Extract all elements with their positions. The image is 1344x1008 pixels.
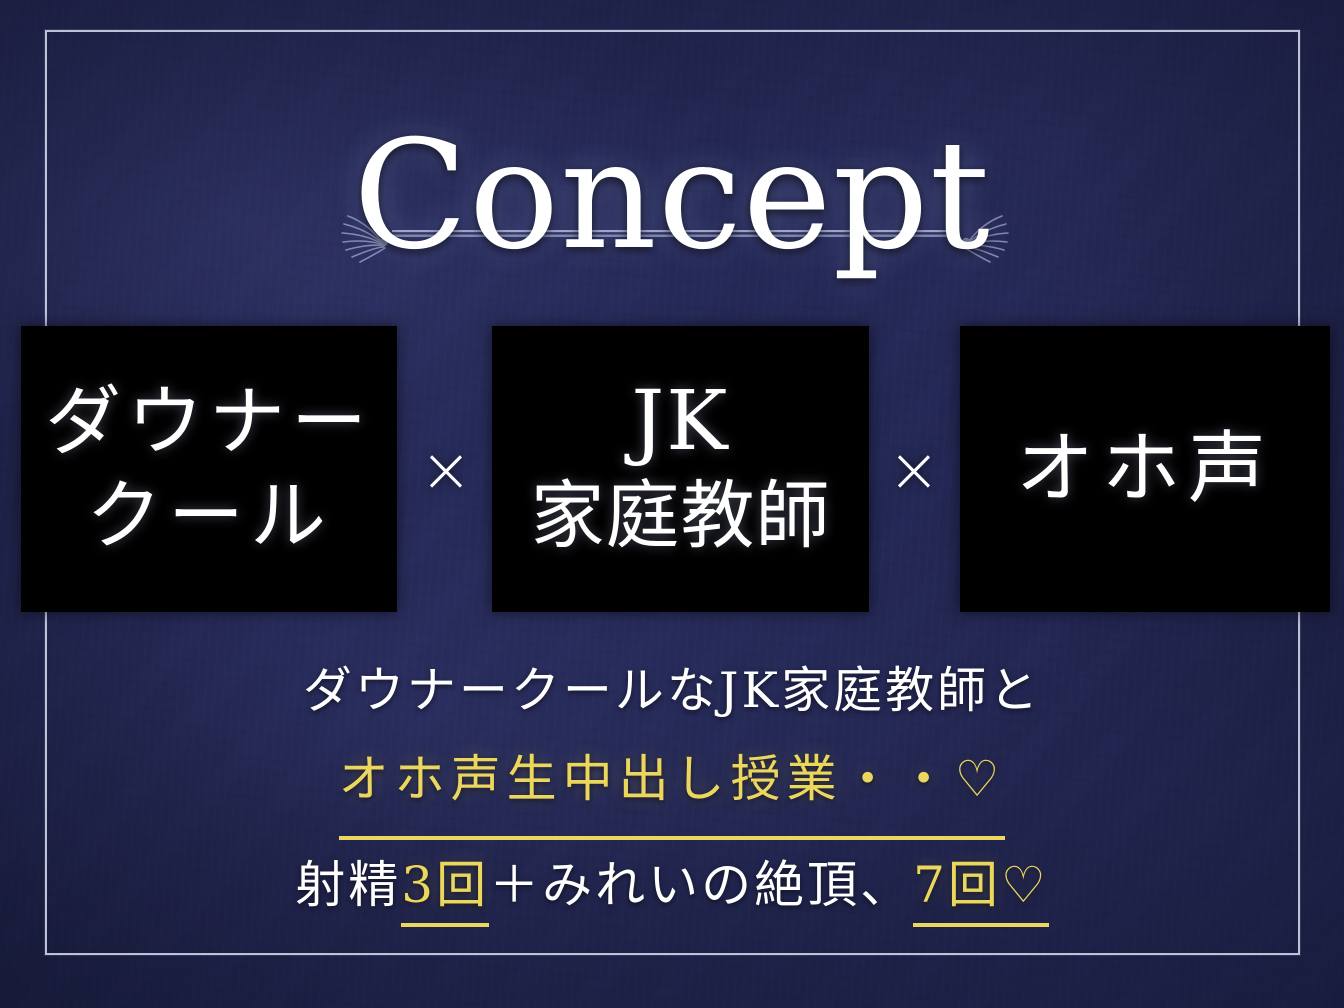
title-section: Concept xyxy=(0,104,1344,294)
concept-slide: Concept ダウナー クール × JK 家庭教師 × オホ声 ダウナークール… xyxy=(0,0,1344,1008)
multiply-icon: × xyxy=(868,326,960,612)
concept-box-1-line-2: クール xyxy=(86,469,332,563)
concept-box-2-line-2: 家庭教師 xyxy=(531,469,831,563)
description-line-3: 射精3回＋みれいの絶頂、7回♡ xyxy=(0,840,1344,930)
concept-box-3-line-1: オホ声 xyxy=(1016,422,1274,516)
description-line-3-highlight-2: 7回♡ xyxy=(913,856,1049,927)
concept-box-1: ダウナー クール xyxy=(21,326,397,612)
concept-boxes-row: ダウナー クール × JK 家庭教師 × オホ声 xyxy=(0,326,1344,612)
description-line-3-part-1: 射精 xyxy=(295,856,401,914)
concept-box-2-line-1: JK xyxy=(631,375,729,469)
description-line-2: オホ声生中出し授業・・♡ xyxy=(0,734,1344,840)
concept-box-3: オホ声 xyxy=(960,326,1330,612)
concept-box-2: JK 家庭教師 xyxy=(492,326,869,612)
description-line-3-highlight-1: 3回 xyxy=(401,856,489,927)
description-line-3-part-2: ＋みれいの絶頂、 xyxy=(489,856,913,914)
multiply-icon: × xyxy=(400,326,492,612)
page-title: Concept xyxy=(0,104,1344,289)
description-line-1: ダウナークールなJK家庭教師と xyxy=(0,648,1344,734)
description-line-2-text: オホ声生中出し授業・・♡ xyxy=(339,734,1006,840)
concept-box-1-line-1: ダウナー xyxy=(45,375,373,469)
concept-description: ダウナークールなJK家庭教師と オホ声生中出し授業・・♡ 射精3回＋みれいの絶頂… xyxy=(0,648,1344,930)
